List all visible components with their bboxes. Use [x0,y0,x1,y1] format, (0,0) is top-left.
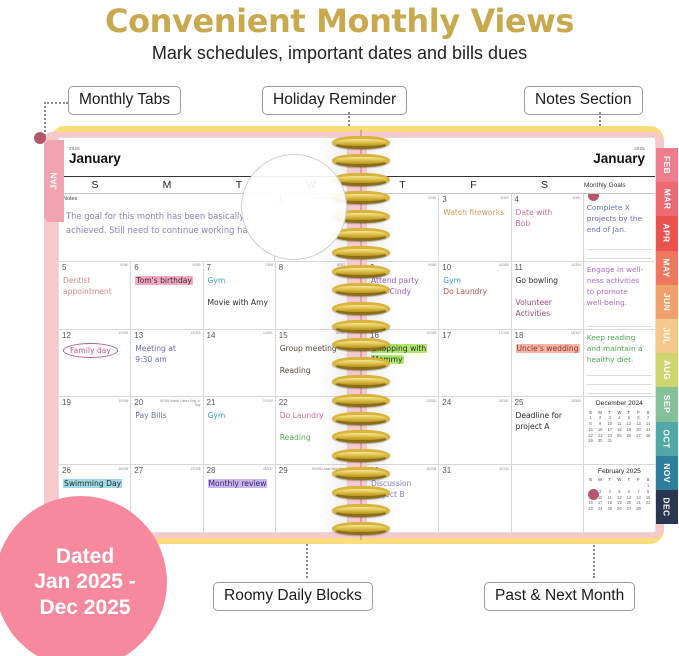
week-row-right-2: 1616/349Shopping withMommy1717/3481818/3… [367,330,655,398]
month-tab-oct[interactable]: OCT [656,422,678,456]
month-tab-label: DEC [662,497,672,516]
entry-line: Deadline for [516,411,563,420]
day-number: 26 [62,466,71,475]
day-info: 28/337 [263,467,273,471]
day-entry: Swimming Day [63,478,128,489]
mini-day: 25 [605,506,615,512]
right-calendar-grid: 22/36333/362Watch fireworks44/361Date wi… [367,193,655,532]
day-entry: Tom's birthday [135,275,200,286]
day-cell-17[interactable]: 1717/348 [439,330,511,397]
day-info: 6/359 [193,263,201,267]
mini-day [634,438,644,444]
day-cell-6[interactable]: 66/359Tom's birthday [131,262,203,329]
day-number: 22 [279,398,288,407]
day-info: 4/361 [573,196,581,200]
day-cell-12[interactable]: 1212/353Family day [59,330,131,397]
month-tab-label: NOV [662,463,672,483]
entry-line: Volunteer [516,298,552,307]
month-tab-jan[interactable]: JAN [44,140,64,222]
goal-text: Engage in well- ness activities to promo… [587,264,652,308]
monthly-goals-header: Monthly Goals [580,177,655,193]
month-tab-label: SEP [662,395,672,413]
monthly-goals-cell-2[interactable]: Keep reading and maintain a healthy diet… [584,330,655,397]
day-cell-21[interactable]: 2121/344Gym [204,397,276,464]
month-tab-label: FEB [662,156,672,174]
mini-day [624,438,634,444]
monthly-goals-cell-1[interactable]: Engage in well- ness activities to promo… [584,262,655,329]
entry-line: Movie with Amy [208,298,269,307]
page-subtitle: Mark schedules, important dates and bill… [0,43,679,64]
day-number: 6 [134,263,138,272]
day-entry: GymMovie with Amy [208,275,273,308]
mini-week-row: 293031 [586,438,653,444]
day-info: 18/347 [571,331,581,335]
entry-line: Watch fireworks [443,208,504,217]
spiral-coil [332,449,390,462]
day-cell-7[interactable]: 77/358GymMovie with Amy [204,262,276,329]
entry-line: Activities [516,309,551,318]
spiral-coil [332,246,390,259]
day-number: 14 [207,331,216,340]
day-cell-10[interactable]: 1010/355GymDo Laundry [439,262,511,329]
day-cell-5[interactable]: 55/360Dentistappointment [59,262,131,329]
day-info: 23/342 [427,399,437,403]
spiral-coil [332,136,390,149]
dow-header-s-2: S [509,177,580,193]
mini-day: 24 [595,506,605,512]
day-number: 20 [134,398,143,407]
month-tab-jul[interactable]: JUL [656,319,678,353]
month-tabs-right[interactable]: FEBMARAPRMAYJUNJULAUGSEPOCTNOVDEC [656,148,678,524]
day-number: 31 [442,466,451,475]
callout-past-next-month: Past & Next Month [484,582,635,611]
day-number: 17 [442,331,451,340]
week-row-left-1: 55/360Dentistappointment66/359Tom's birt… [59,262,347,330]
mini-week-row: 232425262728 [586,506,653,512]
day-entry: Watch fireworks [443,207,508,218]
day-entry: Family day [63,343,128,358]
spiral-coil [332,338,390,351]
day-info: 5/360 [120,263,128,267]
month-tab-label: JUL [662,327,672,344]
day-cell-24[interactable]: 2424/341 [439,397,511,464]
month-tab-label: MAR [662,189,672,210]
week-row-right-3: 2323/3422424/3412525/340Deadline forproj… [367,397,655,465]
day-entry: Go bowlingVolunteerActivities [516,275,581,319]
month-tab-feb[interactable]: FEB [656,148,678,182]
day-cell-14[interactable]: 1414/351 [204,330,276,397]
week-row-right-0: 22/36333/362Watch fireworks44/361Date wi… [367,194,655,262]
entry-line: Monthly review [208,479,268,488]
day-number: 25 [515,398,524,407]
notes-text: The goal for this month has been basical… [66,210,268,238]
day-number: 12 [62,331,71,340]
day-number: 13 [134,331,143,340]
notes-label: Notes [63,196,77,202]
month-tab-dec[interactable]: DEC [656,490,678,524]
entry-line: Meeting at [135,344,176,353]
spiral-coil [332,320,390,333]
day-number: 7 [207,263,211,272]
week-row-right-1: 99/356Attend partywith Cindy1010/355GymD… [367,262,655,330]
goal-text: Keep reading and maintain a healthy diet… [587,332,652,365]
day-cell-28[interactable]: 2828/337Monthly review [204,465,276,532]
callout-holiday-reminder: Holiday Reminder [262,86,407,115]
page-title: Convenient Monthly Views [0,2,679,40]
entry-line: Family day [63,343,118,358]
dow-header-m-1: M [131,177,203,193]
entry-line: Do Laundry [443,287,487,296]
month-tab-sep[interactable]: SEP [656,387,678,421]
entry-line: 9:30 am [135,355,167,364]
callout-monthly-tabs: Monthly Tabs [68,86,181,115]
entry-line: Reading [280,433,311,442]
day-number: 10 [442,263,451,272]
entry-line: Dentist [63,276,90,285]
entry-line: Uncle's wedding [516,344,580,353]
mini-day [615,438,625,444]
mini-day: 26 [615,506,625,512]
jan-tab-dot [34,132,46,144]
month-tab-jun[interactable]: JUN [656,285,678,319]
day-entry: Meeting at9:30 am [135,343,200,365]
page-root: Convenient Monthly Views Mark schedules,… [0,0,679,656]
right-page-month: January [593,151,645,166]
day-info: 12/353 [119,331,129,335]
month-tab-label: JUN [662,293,672,311]
day-info: 10/355 [499,263,509,267]
mini-day: 28 [634,506,644,512]
spiral-coil [332,467,390,480]
day-entry: Dentistappointment [63,275,128,297]
day-entry: Monthly review [208,478,273,489]
day-number: 19 [62,398,71,407]
day-entry: Uncle's wedding [516,343,581,354]
day-info: 19/346 [119,399,129,403]
month-tab-jan-label: JAN [49,172,59,189]
mini-day: 30 [595,438,605,444]
mini-day: 31 [605,438,615,444]
dow-header-s-0: S [59,177,131,193]
month-tab-nov[interactable]: NOV [656,456,678,490]
day-cell-13[interactable]: 1313/352Meeting at9:30 am [131,330,203,397]
holiday-reminder-magnifier [241,154,347,260]
week-row-left-2: 1212/353Family day1313/352Meeting at9:30… [59,330,347,398]
monthly-goals-cell-3[interactable]: December 2024SMTWTFS12345678910111213141… [584,397,655,464]
day-entry: Date withBob [516,207,581,229]
month-tab-aug[interactable]: AUG [656,353,678,387]
day-info: 31/334 [499,467,509,471]
dated-badge-text: Dated Jan 2025 - Dec 2025 [26,544,136,621]
goal-ruled-lines [587,318,652,327]
day-cell-20[interactable]: 2020/345 Martin Luther King Jr. DayPay B… [131,397,203,464]
goal-ruled-lines [587,367,652,394]
day-number: 18 [515,331,524,340]
month-tab-mar[interactable]: MAR [656,182,678,216]
day-entry: Pay Bills [135,410,200,421]
day-number: 21 [207,398,216,407]
day-info: 20/345 Martin Luther King Jr. Day [155,399,201,407]
mini-calendar-title: February 2025 [586,468,653,475]
monthly-goals-cell-4[interactable]: February 2025SMTWTFS12345678910111213141… [584,465,655,532]
mini-day [643,506,653,512]
day-number: 28 [207,466,216,475]
month-tab-label: AUG [662,360,672,380]
day-info: 2/363 [428,196,436,200]
entry-line: Date with [516,208,553,217]
entry-line: Tom's birthday [135,276,193,285]
spiral-coil [332,357,390,370]
day-cell-19[interactable]: 1919/346 [59,397,131,464]
mini-calendar-title: December 2024 [586,400,653,407]
day-info: 14/351 [263,331,273,335]
leader-line-monthly-tabs-h [44,102,68,104]
mini-calendar-marker-dot [588,489,599,500]
spiral-coil [332,486,390,499]
day-info: 26/339 [119,467,129,471]
goal-text: Complete X projects by the end of Jan. [587,196,652,235]
monthly-goals-cell-0[interactable]: Complete X projects by the end of Jan. [584,194,655,261]
spiral-coil [332,375,390,388]
day-entry: Gym [208,410,273,421]
callout-roomy-daily-blocks: Roomy Daily Blocks [213,582,373,611]
mini-day: 23 [586,506,596,512]
entry-line: Reading [280,366,311,375]
entry-line: Bob [516,219,531,228]
day-info: 7/358 [265,263,273,267]
day-info: 16/349 [427,331,437,335]
entry-line: Gym [443,276,461,285]
day-cell-31[interactable]: 3131/334 [439,465,511,532]
day-cell-25[interactable]: 2525/340Deadline forproject A [512,397,584,464]
spiral-coil [332,283,390,296]
entry-line: Gym [208,411,226,420]
day-cell-blank-4-2 [512,465,584,532]
goal-ruled-lines [587,241,652,259]
day-cell-18[interactable]: 1818/347Uncle's wedding [512,330,584,397]
right-page-header: 2025 January [367,138,655,176]
day-number: 4 [515,195,519,204]
month-tab-label: APR [662,224,672,243]
mini-calendar-0: December 2024SMTWTFS12345678910111213141… [584,397,655,443]
day-info: 25/340 [571,399,581,403]
spiral-coil [332,522,390,535]
spiral-coil [332,265,390,278]
spiral-coil [332,302,390,315]
spiral-coil [332,504,390,517]
day-number: 5 [62,263,66,272]
spiral-coil [332,154,390,167]
day-entry: GymDo Laundry [443,275,508,297]
right-page: 2025 January TFSMonthly Goals 22/36333/3… [366,137,656,533]
mini-day: 27 [624,506,634,512]
day-info: 17/348 [499,331,509,335]
day-info: 27/338 [191,467,201,471]
entry-line: Gym [208,276,226,285]
entry-line: appointment [63,287,112,296]
day-number: 3 [442,195,446,204]
day-number: 15 [279,331,288,340]
spiral-coil [332,430,390,443]
day-number: 27 [134,466,143,475]
dow-header-f-1: F [438,177,509,193]
week-row-left-3: 1919/3462020/345 Martin Luther King Jr. … [59,397,347,465]
right-dow-row: TFSMonthly Goals [367,176,655,193]
day-info: 9/356 [428,263,436,267]
week-row-right-4: 3030/335DiscussionProject B3131/334Febru… [367,465,655,532]
day-info: 21/344 [263,399,273,403]
entry-line: project A [516,422,550,431]
month-tab-label: MAY [662,258,672,277]
spiral-coil [332,394,390,407]
day-number: 24 [442,398,451,407]
day-cell-4[interactable]: 44/361Date withBob [512,194,584,261]
entry-line: Swimming Day [63,479,122,488]
mini-calendar-table: SMTWTFS123456789101112131415161718192021… [586,409,653,443]
day-number: 29 [279,466,288,475]
month-tab-apr[interactable]: APR [656,216,678,250]
day-number: 8 [279,263,283,272]
entry-line: Go bowling [516,276,558,285]
left-page-month: January [69,151,121,166]
day-info: 13/352 [191,331,201,335]
day-cell-3[interactable]: 33/362Watch fireworks [439,194,511,261]
day-info: 3/362 [501,196,509,200]
month-tab-label: OCT [662,429,672,448]
entry-line: Do Laundry [280,411,324,420]
spiral-coil [332,412,390,425]
day-number: 11 [515,263,523,272]
day-info: 24/341 [499,399,509,403]
day-cell-11[interactable]: 1111/354Go bowlingVolunteerActivities [512,262,584,329]
mini-day [643,438,653,444]
mini-day: 29 [586,438,596,444]
day-info: 11/354 [571,263,581,267]
day-entry: Deadline forproject A [516,410,581,432]
day-info: 30/335 [427,467,437,471]
planner: 2025 January SMTW NotesThe goal for this… [30,126,662,544]
month-tab-may[interactable]: MAY [656,251,678,285]
callout-notes-section: Notes Section [524,86,643,115]
entry-line: Pay Bills [135,411,166,420]
